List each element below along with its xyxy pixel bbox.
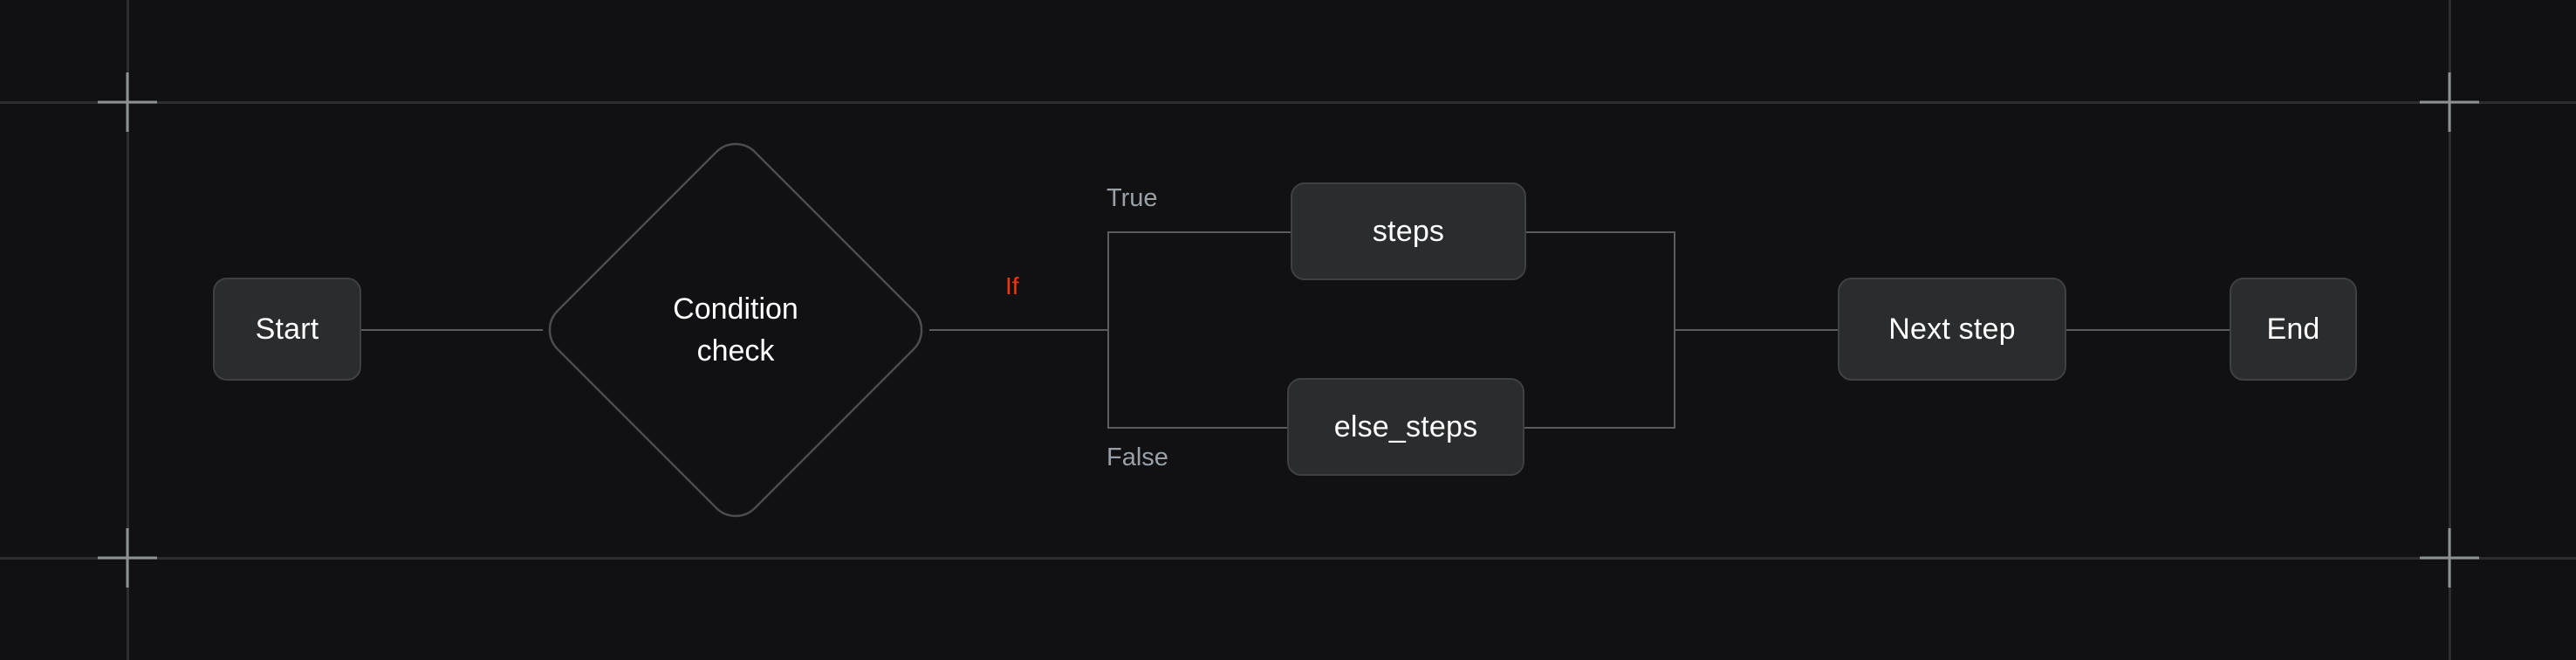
node-end-label: End [2266,312,2319,347]
node-steps-label: steps [1373,214,1444,250]
edge-label-if: If [1005,272,1019,300]
node-condition-check-label-group: Condition check [541,135,930,525]
edge-label-true: True [1106,184,1158,213]
edge-label-false: False [1106,443,1168,472]
node-else-steps-label: else_steps [1334,409,1478,445]
connector-steps-to-merge [1525,231,1675,233]
connector-start-to-condition [361,329,543,331]
node-condition-check[interactable]: Condition check [541,135,930,525]
node-steps[interactable]: steps [1291,182,1526,280]
node-condition-check-label-line2: check [697,330,775,372]
connector-fork-spine [1107,231,1109,429]
node-start[interactable]: Start [213,278,361,381]
guide-line-horizontal-bottom [0,557,2576,560]
node-next-step-label: Next step [1888,312,2015,347]
node-start-label: Start [256,312,319,347]
node-else-steps[interactable]: else_steps [1287,378,1524,476]
node-end[interactable]: End [2230,278,2357,381]
connector-false-branch [1107,427,1287,429]
guide-line-vertical-left [127,0,129,660]
connector-true-branch [1107,231,1291,233]
guide-line-horizontal-top [0,101,2576,104]
guide-line-vertical-right [2449,0,2451,660]
connector-condition-to-fork [929,329,1108,331]
connector-merge-to-next-step [1674,329,1838,331]
connector-next-step-to-end [2066,329,2230,331]
connector-else-steps-to-merge [1523,427,1675,429]
node-next-step[interactable]: Next step [1838,278,2066,381]
flow-canvas[interactable]: Start Condition check steps else_steps N… [0,0,2576,660]
node-condition-check-label-line1: Condition [673,288,798,330]
